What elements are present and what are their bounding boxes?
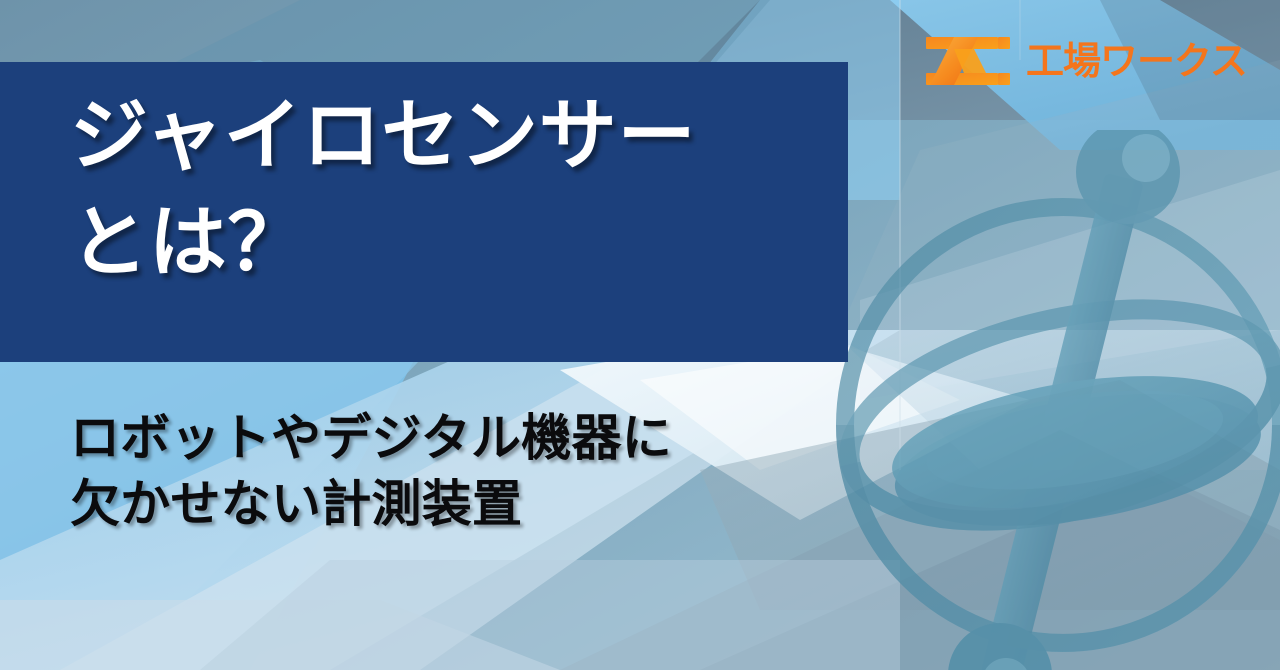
kojo-works-z-mark-icon xyxy=(924,33,1012,89)
article-banner: ジャイロセンサー とは？ ロボットやデジタル機器に 欠かせない計測装置 xyxy=(0,0,1280,670)
title-line-1: ジャイロセンサー xyxy=(70,82,860,189)
logo-wordmark-text: 工場ワークス xyxy=(1026,41,1247,83)
subtitle-line-2: 欠かせない計測装置 xyxy=(70,471,830,537)
site-logo[interactable]: 工場ワークス xyxy=(924,32,1256,90)
title-line-2: とは？ xyxy=(70,189,860,296)
page-title: ジャイロセンサー とは？ xyxy=(70,82,860,296)
logo-wordmark: 工場ワークス xyxy=(1026,39,1256,83)
subtitle-line-1: ロボットやデジタル機器に xyxy=(70,405,830,471)
page-subtitle: ロボットやデジタル機器に 欠かせない計測装置 xyxy=(70,405,830,537)
